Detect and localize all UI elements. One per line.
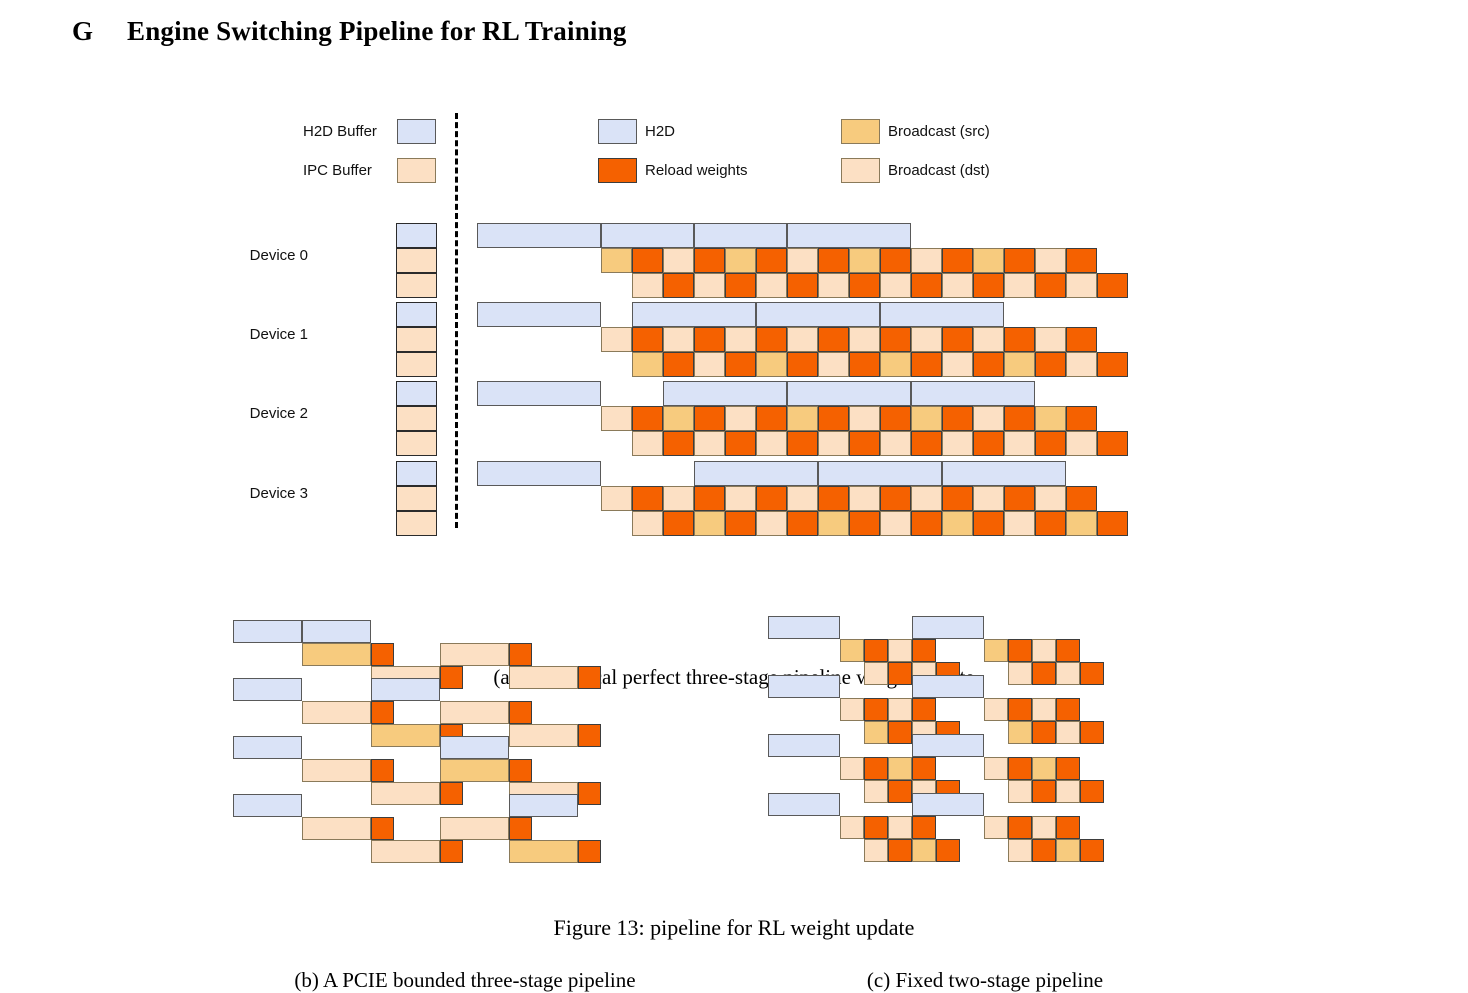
pc-mid-3-0-0 bbox=[840, 816, 864, 839]
broadcast-cell-bot-1-5 bbox=[787, 352, 818, 377]
buffer-cell-3-2 bbox=[396, 511, 437, 536]
pc-bot-2-1-0 bbox=[1008, 780, 1032, 803]
broadcast-cell-bot-3-4 bbox=[756, 511, 787, 536]
panel-a-caption: (a) Theoretical perfect three-stage pipe… bbox=[0, 665, 1468, 690]
pb-bot-reload-2-3 bbox=[578, 782, 601, 805]
broadcast-cell-mid-1-6 bbox=[787, 327, 818, 352]
pb-h2d-1-1 bbox=[371, 678, 440, 701]
broadcast-cell-bot-3-15 bbox=[1097, 511, 1128, 536]
page-root: GEngine Switching Pipeline for RL Traini… bbox=[0, 0, 1468, 970]
h2d-bar-2-2 bbox=[787, 381, 911, 406]
broadcast-cell-mid-1-1 bbox=[632, 327, 663, 352]
broadcast-cell-mid-1-12 bbox=[973, 327, 1004, 352]
broadcast-cell-bot-2-6 bbox=[818, 431, 849, 456]
pb-mid-reload-3-1 bbox=[371, 817, 394, 840]
broadcast-cell-mid-1-15 bbox=[1066, 327, 1097, 352]
broadcast-cell-bot-1-14 bbox=[1066, 352, 1097, 377]
buffer-cell-3-0 bbox=[396, 461, 437, 486]
broadcast-cell-mid-0-3 bbox=[694, 248, 725, 273]
pb-h2d-0-0 bbox=[233, 620, 302, 643]
legend-divider bbox=[455, 113, 458, 528]
broadcast-cell-mid-0-10 bbox=[911, 248, 942, 273]
broadcast-cell-mid-1-13 bbox=[1004, 327, 1035, 352]
broadcast-cell-bot-0-12 bbox=[1004, 273, 1035, 298]
broadcast-cell-mid-0-15 bbox=[1066, 248, 1097, 273]
pb-mid-reload-1-1 bbox=[371, 701, 394, 724]
broadcast-cell-mid-0-1 bbox=[632, 248, 663, 273]
broadcast-cell-bot-1-11 bbox=[973, 352, 1004, 377]
broadcast-cell-bot-2-11 bbox=[973, 431, 1004, 456]
pb-mid-dst-3-0 bbox=[302, 817, 371, 840]
broadcast-cell-mid-2-9 bbox=[880, 406, 911, 431]
legend-swatch-src-stage bbox=[841, 119, 880, 144]
buffer-cell-1-1 bbox=[396, 327, 437, 352]
broadcast-cell-mid-2-11 bbox=[942, 406, 973, 431]
broadcast-cell-bot-3-3 bbox=[725, 511, 756, 536]
pc-mid-1-0-0 bbox=[840, 698, 864, 721]
buffer-cell-2-1 bbox=[396, 406, 437, 431]
broadcast-cell-bot-0-9 bbox=[911, 273, 942, 298]
pb-mid-reload-2-3 bbox=[509, 759, 532, 782]
broadcast-cell-mid-3-2 bbox=[663, 486, 694, 511]
broadcast-cell-bot-1-12 bbox=[1004, 352, 1035, 377]
legend-swatch-reload-stage bbox=[598, 158, 637, 183]
pc-mid-1-0-2 bbox=[888, 698, 912, 721]
broadcast-cell-mid-3-9 bbox=[880, 486, 911, 511]
pc-mid-0-0-0 bbox=[840, 639, 864, 662]
broadcast-cell-bot-0-14 bbox=[1066, 273, 1097, 298]
pb-h2d-0-1 bbox=[302, 620, 371, 643]
broadcast-cell-bot-1-6 bbox=[818, 352, 849, 377]
broadcast-cell-mid-1-14 bbox=[1035, 327, 1066, 352]
pb-bot-reload-3-1 bbox=[440, 840, 463, 863]
legend-swatch-h2d-stage bbox=[598, 119, 637, 144]
broadcast-cell-mid-0-11 bbox=[942, 248, 973, 273]
pc-mid-3-0-2 bbox=[888, 816, 912, 839]
h2d-bar-0-3 bbox=[787, 223, 911, 248]
pb-mid-reload-1-3 bbox=[509, 701, 532, 724]
broadcast-cell-bot-1-15 bbox=[1097, 352, 1128, 377]
broadcast-cell-mid-1-0 bbox=[601, 327, 632, 352]
pc-bot-2-1-2 bbox=[1056, 780, 1080, 803]
pc-bot-1-1-2 bbox=[1056, 721, 1080, 744]
pc-mid-1-1-1 bbox=[1008, 698, 1032, 721]
h2d-bar-3-2 bbox=[818, 461, 942, 486]
section-number: G bbox=[72, 16, 127, 47]
broadcast-cell-bot-0-11 bbox=[973, 273, 1004, 298]
broadcast-cell-mid-3-13 bbox=[1004, 486, 1035, 511]
pc-h2d-1-0 bbox=[768, 675, 840, 698]
broadcast-cell-bot-3-13 bbox=[1035, 511, 1066, 536]
pb-bot-src-1-0 bbox=[371, 724, 440, 747]
broadcast-cell-bot-3-10 bbox=[942, 511, 973, 536]
broadcast-cell-mid-1-11 bbox=[942, 327, 973, 352]
broadcast-cell-bot-0-8 bbox=[880, 273, 911, 298]
broadcast-cell-bot-0-7 bbox=[849, 273, 880, 298]
pc-bot-2-0-0 bbox=[864, 780, 888, 803]
page-title: GEngine Switching Pipeline for RL Traini… bbox=[72, 16, 627, 47]
pc-bot-3-1-0 bbox=[1008, 839, 1032, 862]
broadcast-cell-mid-1-10 bbox=[911, 327, 942, 352]
pb-bot-reload-0-1 bbox=[440, 666, 463, 689]
pb-bot-reload-3-3 bbox=[578, 840, 601, 863]
pc-bot-3-0-3 bbox=[936, 839, 960, 862]
broadcast-cell-mid-0-8 bbox=[849, 248, 880, 273]
broadcast-cell-bot-0-3 bbox=[725, 273, 756, 298]
pc-bot-3-1-1 bbox=[1032, 839, 1056, 862]
h2d-bar-0-0 bbox=[477, 223, 601, 248]
panel-c-caption: (c) Fixed two-stage pipeline bbox=[730, 968, 1240, 993]
h2d-bar-3-0 bbox=[477, 461, 601, 486]
pb-mid-reload-0-1 bbox=[371, 643, 394, 666]
pb-mid-dst-1-2 bbox=[440, 701, 509, 724]
broadcast-cell-mid-1-3 bbox=[694, 327, 725, 352]
buffer-cell-0-2 bbox=[396, 273, 437, 298]
broadcast-cell-bot-2-9 bbox=[911, 431, 942, 456]
legend-label-stage-3: Broadcast (dst) bbox=[888, 162, 990, 179]
pc-bot-2-1-1 bbox=[1032, 780, 1056, 803]
h2d-bar-2-3 bbox=[911, 381, 1035, 406]
pc-bot-0-1-0 bbox=[1008, 662, 1032, 685]
figure-caption: Figure 13: pipeline for RL weight update bbox=[0, 915, 1468, 941]
h2d-bar-2-0 bbox=[477, 381, 601, 406]
pb-h2d-1-0 bbox=[233, 678, 302, 701]
broadcast-cell-bot-3-6 bbox=[818, 511, 849, 536]
h2d-bar-1-1 bbox=[632, 302, 756, 327]
pc-bot-0-1-1 bbox=[1032, 662, 1056, 685]
broadcast-cell-mid-3-6 bbox=[787, 486, 818, 511]
pc-bot-1-1-1 bbox=[1032, 721, 1056, 744]
h2d-bar-3-3 bbox=[942, 461, 1066, 486]
broadcast-cell-mid-2-14 bbox=[1035, 406, 1066, 431]
pc-mid-2-0-2 bbox=[888, 757, 912, 780]
pc-h2d-0-0 bbox=[768, 616, 840, 639]
broadcast-cell-mid-2-0 bbox=[601, 406, 632, 431]
pc-bot-1-1-0 bbox=[1008, 721, 1032, 744]
pc-h2d-3-1 bbox=[912, 793, 984, 816]
pc-mid-2-0-3 bbox=[912, 757, 936, 780]
broadcast-cell-bot-3-7 bbox=[849, 511, 880, 536]
broadcast-cell-bot-3-12 bbox=[1004, 511, 1035, 536]
pc-mid-0-1-2 bbox=[1032, 639, 1056, 662]
broadcast-cell-mid-2-7 bbox=[818, 406, 849, 431]
pc-mid-3-1-0 bbox=[984, 816, 1008, 839]
pb-bot-src-3-2 bbox=[509, 840, 578, 863]
pc-mid-0-1-0 bbox=[984, 639, 1008, 662]
pc-bot-3-1-3 bbox=[1080, 839, 1104, 862]
pc-mid-3-0-3 bbox=[912, 816, 936, 839]
broadcast-cell-mid-1-7 bbox=[818, 327, 849, 352]
pc-mid-2-0-0 bbox=[840, 757, 864, 780]
pb-mid-dst-2-0 bbox=[302, 759, 371, 782]
h2d-bar-0-1 bbox=[601, 223, 694, 248]
buffer-cell-1-0 bbox=[396, 302, 437, 327]
broadcast-cell-mid-0-2 bbox=[663, 248, 694, 273]
broadcast-cell-bot-1-10 bbox=[942, 352, 973, 377]
broadcast-cell-bot-0-0 bbox=[632, 273, 663, 298]
pb-h2d-2-1 bbox=[440, 736, 509, 759]
broadcast-cell-mid-2-1 bbox=[632, 406, 663, 431]
broadcast-cell-mid-0-13 bbox=[1004, 248, 1035, 273]
pc-mid-1-1-0 bbox=[984, 698, 1008, 721]
broadcast-cell-bot-1-4 bbox=[756, 352, 787, 377]
broadcast-cell-mid-0-14 bbox=[1035, 248, 1066, 273]
broadcast-cell-bot-1-3 bbox=[725, 352, 756, 377]
broadcast-cell-mid-2-2 bbox=[663, 406, 694, 431]
broadcast-cell-mid-3-10 bbox=[911, 486, 942, 511]
pc-h2d-0-1 bbox=[912, 616, 984, 639]
pc-mid-2-1-2 bbox=[1032, 757, 1056, 780]
h2d-bar-1-2 bbox=[756, 302, 880, 327]
pc-bot-3-0-1 bbox=[888, 839, 912, 862]
pb-bot-reload-1-3 bbox=[578, 724, 601, 747]
pb-mid-src-0-0 bbox=[302, 643, 371, 666]
broadcast-cell-mid-0-4 bbox=[725, 248, 756, 273]
broadcast-cell-bot-3-1 bbox=[663, 511, 694, 536]
broadcast-cell-mid-3-12 bbox=[973, 486, 1004, 511]
pb-mid-dst-3-2 bbox=[440, 817, 509, 840]
broadcast-cell-bot-2-14 bbox=[1066, 431, 1097, 456]
legend-label-h2d-buffer: H2D Buffer bbox=[303, 123, 377, 140]
buffer-cell-1-2 bbox=[396, 352, 437, 377]
pc-mid-2-1-3 bbox=[1056, 757, 1080, 780]
broadcast-cell-mid-2-13 bbox=[1004, 406, 1035, 431]
pb-mid-dst-0-2 bbox=[440, 643, 509, 666]
broadcast-cell-mid-3-15 bbox=[1066, 486, 1097, 511]
buffer-cell-0-1 bbox=[396, 248, 437, 273]
broadcast-cell-bot-0-10 bbox=[942, 273, 973, 298]
broadcast-cell-bot-3-0 bbox=[632, 511, 663, 536]
broadcast-cell-mid-1-9 bbox=[880, 327, 911, 352]
pc-mid-2-1-0 bbox=[984, 757, 1008, 780]
device-label-2: Device 2 bbox=[198, 405, 308, 422]
legend-label-dst-buffer: IPC Buffer bbox=[303, 162, 372, 179]
broadcast-cell-mid-0-6 bbox=[787, 248, 818, 273]
broadcast-cell-mid-2-6 bbox=[787, 406, 818, 431]
pb-mid-dst-1-0 bbox=[302, 701, 371, 724]
pc-h2d-3-0 bbox=[768, 793, 840, 816]
pc-bot-3-0-0 bbox=[864, 839, 888, 862]
broadcast-cell-mid-0-9 bbox=[880, 248, 911, 273]
broadcast-cell-mid-2-12 bbox=[973, 406, 1004, 431]
broadcast-cell-bot-0-1 bbox=[663, 273, 694, 298]
pb-bot-dst-2-0 bbox=[371, 782, 440, 805]
broadcast-cell-bot-1-8 bbox=[880, 352, 911, 377]
legend-label-stage-0: H2D bbox=[645, 123, 675, 140]
pc-mid-2-1-1 bbox=[1008, 757, 1032, 780]
broadcast-cell-bot-1-13 bbox=[1035, 352, 1066, 377]
broadcast-cell-mid-3-14 bbox=[1035, 486, 1066, 511]
pc-bot-0-1-2 bbox=[1056, 662, 1080, 685]
buffer-cell-2-0 bbox=[396, 381, 437, 406]
broadcast-cell-bot-2-0 bbox=[632, 431, 663, 456]
pc-bot-1-0-0 bbox=[864, 721, 888, 744]
broadcast-cell-bot-3-2 bbox=[694, 511, 725, 536]
pb-h2d-2-0 bbox=[233, 736, 302, 759]
broadcast-cell-bot-3-8 bbox=[880, 511, 911, 536]
broadcast-cell-mid-2-10 bbox=[911, 406, 942, 431]
pb-mid-reload-3-3 bbox=[509, 817, 532, 840]
buffer-cell-0-0 bbox=[396, 223, 437, 248]
h2d-bar-1-3 bbox=[880, 302, 1004, 327]
broadcast-cell-bot-2-5 bbox=[787, 431, 818, 456]
broadcast-cell-bot-0-2 bbox=[694, 273, 725, 298]
broadcast-cell-bot-3-14 bbox=[1066, 511, 1097, 536]
pb-bot-reload-0-3 bbox=[578, 666, 601, 689]
pc-mid-3-1-3 bbox=[1056, 816, 1080, 839]
broadcast-cell-bot-2-15 bbox=[1097, 431, 1128, 456]
broadcast-cell-bot-1-1 bbox=[663, 352, 694, 377]
broadcast-cell-bot-0-4 bbox=[756, 273, 787, 298]
section-title: Engine Switching Pipeline for RL Trainin… bbox=[127, 16, 627, 46]
legend-label-stage-1: Reload weights bbox=[645, 162, 748, 179]
device-label-1: Device 1 bbox=[198, 326, 308, 343]
device-label-0: Device 0 bbox=[198, 247, 308, 264]
broadcast-cell-bot-1-0 bbox=[632, 352, 663, 377]
broadcast-cell-bot-2-10 bbox=[942, 431, 973, 456]
pc-bot-1-1-3 bbox=[1080, 721, 1104, 744]
pc-mid-2-0-1 bbox=[864, 757, 888, 780]
pc-bot-0-1-3 bbox=[1080, 662, 1104, 685]
broadcast-cell-mid-3-1 bbox=[632, 486, 663, 511]
pb-h2d-3-0 bbox=[233, 794, 302, 817]
device-label-3: Device 3 bbox=[198, 485, 308, 502]
broadcast-cell-bot-2-2 bbox=[694, 431, 725, 456]
broadcast-cell-bot-0-13 bbox=[1035, 273, 1066, 298]
pc-mid-0-1-1 bbox=[1008, 639, 1032, 662]
pc-mid-1-0-1 bbox=[864, 698, 888, 721]
broadcast-cell-bot-0-6 bbox=[818, 273, 849, 298]
broadcast-cell-mid-2-5 bbox=[756, 406, 787, 431]
broadcast-cell-bot-1-7 bbox=[849, 352, 880, 377]
pb-bot-dst-0-2 bbox=[509, 666, 578, 689]
pc-mid-0-0-2 bbox=[888, 639, 912, 662]
pc-bot-0-0-1 bbox=[888, 662, 912, 685]
broadcast-cell-mid-3-8 bbox=[849, 486, 880, 511]
broadcast-cell-mid-0-0 bbox=[601, 248, 632, 273]
broadcast-cell-mid-1-5 bbox=[756, 327, 787, 352]
broadcast-cell-bot-1-9 bbox=[911, 352, 942, 377]
broadcast-cell-mid-1-8 bbox=[849, 327, 880, 352]
broadcast-cell-bot-0-15 bbox=[1097, 273, 1128, 298]
broadcast-cell-bot-3-11 bbox=[973, 511, 1004, 536]
broadcast-cell-mid-3-3 bbox=[694, 486, 725, 511]
broadcast-cell-bot-3-9 bbox=[911, 511, 942, 536]
pc-bot-3-0-2 bbox=[912, 839, 936, 862]
broadcast-cell-mid-0-12 bbox=[973, 248, 1004, 273]
pc-mid-3-0-1 bbox=[864, 816, 888, 839]
buffer-cell-3-1 bbox=[396, 486, 437, 511]
legend-swatch-dst bbox=[397, 158, 436, 183]
pb-mid-reload-0-3 bbox=[509, 643, 532, 666]
h2d-bar-1-0 bbox=[477, 302, 601, 327]
pb-bot-dst-3-0 bbox=[371, 840, 440, 863]
pc-mid-1-0-3 bbox=[912, 698, 936, 721]
pc-h2d-2-0 bbox=[768, 734, 840, 757]
broadcast-cell-mid-3-4 bbox=[725, 486, 756, 511]
pc-mid-0-0-3 bbox=[912, 639, 936, 662]
pb-mid-src-2-2 bbox=[440, 759, 509, 782]
broadcast-cell-bot-2-12 bbox=[1004, 431, 1035, 456]
broadcast-cell-bot-2-3 bbox=[725, 431, 756, 456]
broadcast-cell-mid-2-3 bbox=[694, 406, 725, 431]
pc-mid-1-1-3 bbox=[1056, 698, 1080, 721]
h2d-bar-0-2 bbox=[694, 223, 787, 248]
broadcast-cell-bot-2-13 bbox=[1035, 431, 1066, 456]
broadcast-cell-mid-2-15 bbox=[1066, 406, 1097, 431]
legend-swatch-dst-stage bbox=[841, 158, 880, 183]
pc-mid-3-1-2 bbox=[1032, 816, 1056, 839]
pc-bot-2-1-3 bbox=[1080, 780, 1104, 803]
panel-b-caption: (b) A PCIE bounded three-stage pipeline bbox=[200, 968, 730, 993]
h2d-bar-3-1 bbox=[694, 461, 818, 486]
broadcast-cell-mid-1-2 bbox=[663, 327, 694, 352]
legend-label-stage-2: Broadcast (src) bbox=[888, 123, 990, 140]
legend-swatch-h2d bbox=[397, 119, 436, 144]
broadcast-cell-mid-3-7 bbox=[818, 486, 849, 511]
pc-bot-3-1-2 bbox=[1056, 839, 1080, 862]
broadcast-cell-bot-2-8 bbox=[880, 431, 911, 456]
pc-bot-1-0-1 bbox=[888, 721, 912, 744]
broadcast-cell-bot-2-4 bbox=[756, 431, 787, 456]
pc-mid-0-0-1 bbox=[864, 639, 888, 662]
pc-h2d-1-1 bbox=[912, 675, 984, 698]
broadcast-cell-mid-3-0 bbox=[601, 486, 632, 511]
broadcast-cell-bot-0-5 bbox=[787, 273, 818, 298]
broadcast-cell-bot-2-1 bbox=[663, 431, 694, 456]
pc-mid-3-1-1 bbox=[1008, 816, 1032, 839]
pc-mid-0-1-3 bbox=[1056, 639, 1080, 662]
broadcast-cell-mid-3-5 bbox=[756, 486, 787, 511]
broadcast-cell-mid-2-4 bbox=[725, 406, 756, 431]
figure-13: H2D BufferIPC BufferH2DReload weightsBro… bbox=[0, 95, 1468, 925]
broadcast-cell-bot-3-5 bbox=[787, 511, 818, 536]
pb-bot-dst-1-2 bbox=[509, 724, 578, 747]
broadcast-cell-mid-2-8 bbox=[849, 406, 880, 431]
broadcast-cell-mid-1-4 bbox=[725, 327, 756, 352]
pc-mid-1-1-2 bbox=[1032, 698, 1056, 721]
pc-bot-2-0-1 bbox=[888, 780, 912, 803]
pc-bot-0-0-0 bbox=[864, 662, 888, 685]
pb-bot-reload-2-1 bbox=[440, 782, 463, 805]
broadcast-cell-bot-1-2 bbox=[694, 352, 725, 377]
broadcast-cell-mid-3-11 bbox=[942, 486, 973, 511]
pc-h2d-2-1 bbox=[912, 734, 984, 757]
buffer-cell-2-2 bbox=[396, 431, 437, 456]
broadcast-cell-bot-2-7 bbox=[849, 431, 880, 456]
broadcast-cell-mid-0-5 bbox=[756, 248, 787, 273]
h2d-bar-2-1 bbox=[663, 381, 787, 406]
broadcast-cell-mid-0-7 bbox=[818, 248, 849, 273]
pb-h2d-3-1 bbox=[509, 794, 578, 817]
pb-mid-reload-2-1 bbox=[371, 759, 394, 782]
